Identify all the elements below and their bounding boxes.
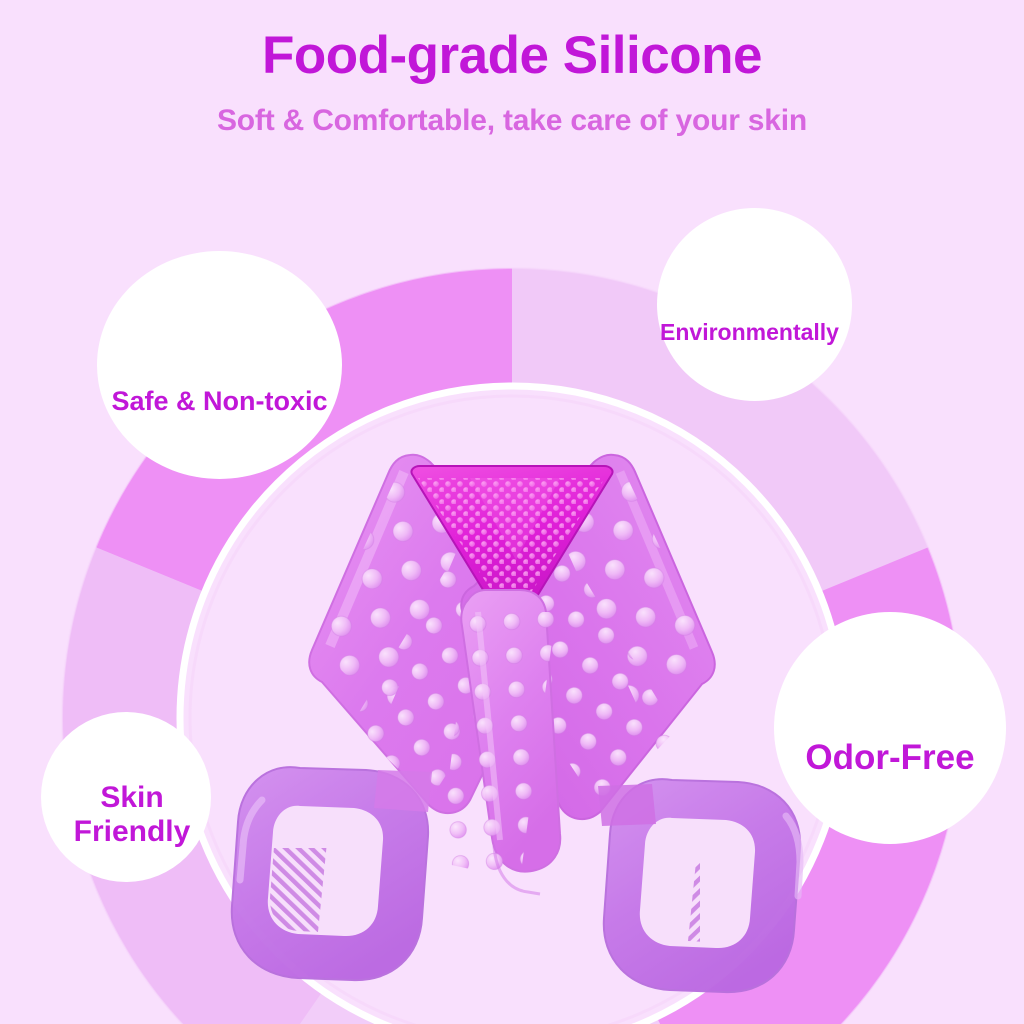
feature-label-skin-friendly: Skin Friendly	[47, 781, 217, 848]
feature-bubble-skin-friendly[interactable]: Skin Friendly	[41, 712, 211, 882]
header: Food-grade Silicone Soft & Comfortable, …	[0, 0, 1024, 137]
feature-label-odor-free: Odor-Free	[805, 738, 974, 777]
page-subtitle: Soft & Comfortable, take care of your sk…	[0, 84, 1024, 137]
feature-label-environmentally: Environmentally	[660, 320, 839, 346]
page-title: Food-grade Silicone	[0, 0, 1024, 84]
feature-bubble-odor-free[interactable]: Odor-Free	[774, 612, 1006, 844]
infographic-page: Food-grade Silicone Soft & Comfortable, …	[0, 0, 1024, 1024]
feature-bubble-safe-non-toxic[interactable]: Safe & Non-toxic	[97, 251, 342, 479]
feature-label-safe-non-toxic: Safe & Non-toxic	[111, 386, 327, 416]
feature-bubble-environmentally[interactable]: Environmentally	[657, 208, 852, 401]
